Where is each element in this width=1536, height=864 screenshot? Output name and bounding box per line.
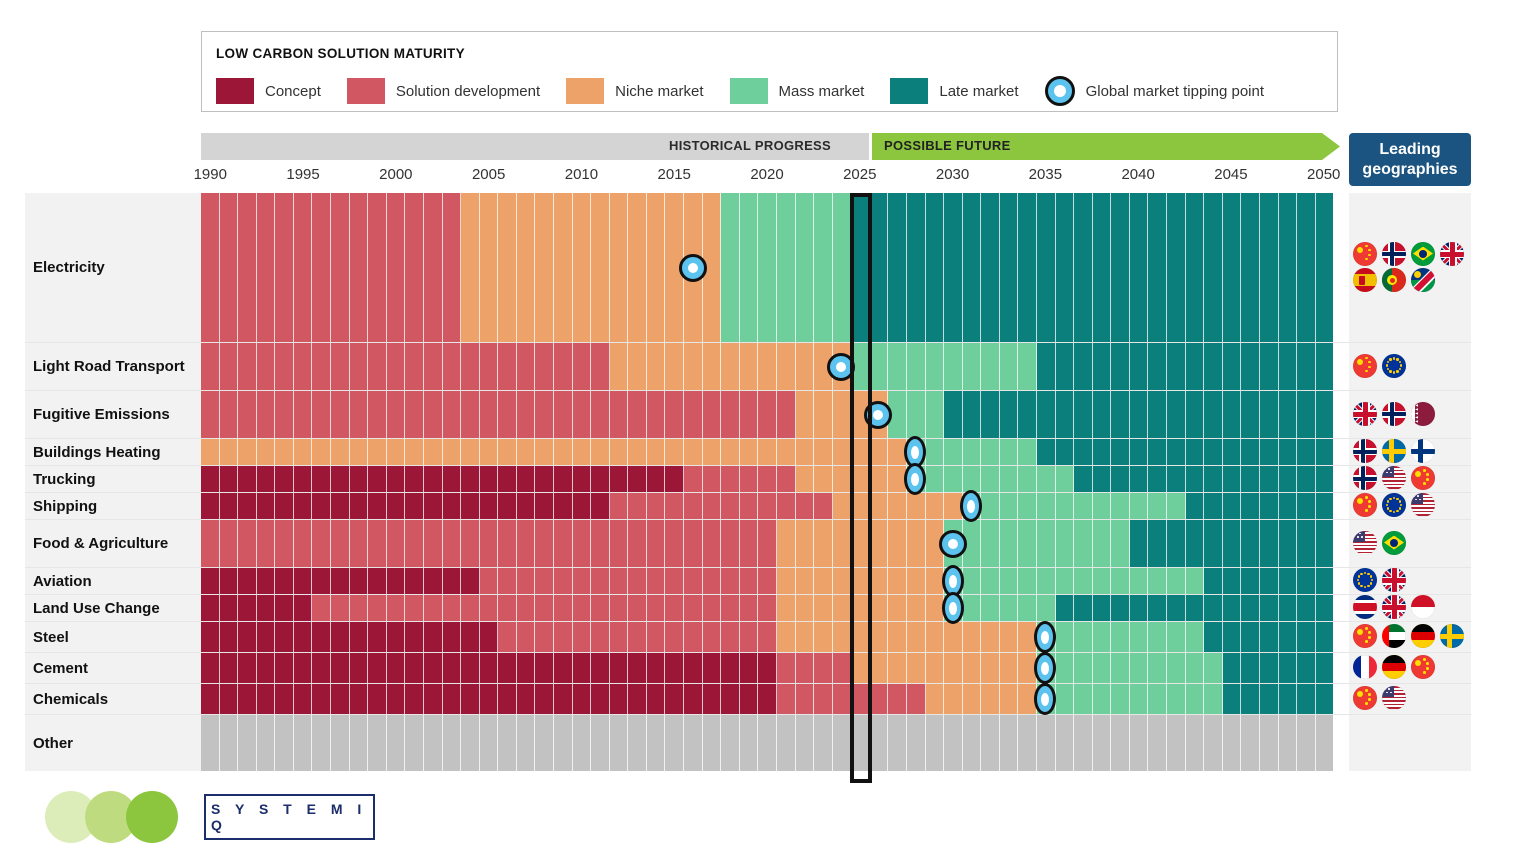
matrix-cell <box>944 193 963 342</box>
matrix-cell <box>1297 684 1316 714</box>
flag-icon-sweden <box>1382 439 1406 463</box>
matrix-cell <box>628 653 647 683</box>
matrix-cell <box>424 684 443 714</box>
matrix-cell <box>870 622 889 652</box>
axis-tick-2045: 2045 <box>1214 166 1247 183</box>
matrix-cell <box>796 493 815 519</box>
flag-icon-china <box>1353 493 1377 517</box>
matrix-cell <box>888 520 907 567</box>
matrix-cell <box>1000 622 1019 652</box>
matrix-cell <box>1056 391 1075 438</box>
row-geographies <box>1349 391 1471 438</box>
matrix-cell <box>275 653 294 683</box>
matrix-cell <box>1111 193 1130 342</box>
matrix-cell <box>461 715 480 771</box>
matrix-cell <box>981 343 1000 390</box>
matrix-cell <box>238 391 257 438</box>
matrix-cell <box>1037 193 1056 342</box>
matrix-cell <box>1260 343 1279 390</box>
matrix-cell <box>610 391 629 438</box>
matrix-cell <box>1074 568 1093 594</box>
matrix-cell <box>926 193 945 342</box>
matrix-cell <box>870 684 889 714</box>
matrix-cell <box>368 343 387 390</box>
matrix-cell <box>740 193 759 342</box>
matrix-cell <box>665 684 684 714</box>
matrix-cell <box>1093 493 1112 519</box>
leading-geographies-line1: Leading <box>1379 141 1440 158</box>
legend-item-tipping-point: Global market tipping point <box>1045 76 1264 106</box>
matrix-cell <box>1204 568 1223 594</box>
matrix-cell <box>1111 439 1130 465</box>
matrix-cell <box>1204 391 1223 438</box>
matrix-cell <box>1260 595 1279 621</box>
matrix-cell <box>591 343 610 390</box>
matrix-cell <box>1186 715 1205 771</box>
matrix-cell <box>591 439 610 465</box>
matrix-cell <box>331 439 350 465</box>
matrix-cell <box>1093 193 1112 342</box>
matrix-cell <box>1204 684 1223 714</box>
matrix-cell <box>814 439 833 465</box>
matrix-cell <box>944 439 963 465</box>
matrix-cell <box>1241 343 1260 390</box>
matrix-row: Light Road Transport <box>25 343 1471 391</box>
matrix-cell <box>684 622 703 652</box>
legend-swatch-icon <box>890 78 928 104</box>
matrix-cell <box>1316 439 1334 465</box>
matrix-cell <box>238 715 257 771</box>
matrix-cell <box>350 391 369 438</box>
matrix-cell <box>405 466 424 492</box>
matrix-cell <box>1130 684 1149 714</box>
matrix-cell <box>647 622 666 652</box>
flag-icon-european-union <box>1353 568 1377 592</box>
legend-item-mass-market: Mass market <box>730 78 865 104</box>
matrix-cell <box>257 684 276 714</box>
matrix-cell <box>498 493 517 519</box>
matrix-cell <box>257 520 276 567</box>
matrix-cell <box>294 466 313 492</box>
matrix-cell <box>1130 439 1149 465</box>
matrix-cell <box>1093 391 1112 438</box>
flag-icon-united-states <box>1382 466 1406 490</box>
matrix-cell <box>703 622 722 652</box>
matrix-cell <box>480 193 499 342</box>
matrix-cell <box>870 493 889 519</box>
matrix-cell <box>758 343 777 390</box>
matrix-cell <box>554 653 573 683</box>
matrix-cell <box>238 568 257 594</box>
matrix-cell <box>1093 520 1112 567</box>
row-geographies <box>1349 466 1471 492</box>
matrix-cell <box>257 568 276 594</box>
matrix-cell <box>1316 493 1334 519</box>
flag-icon-united-kingdom <box>1382 568 1406 592</box>
tipping-point-marker-land-use-change <box>942 592 964 624</box>
matrix-cell <box>981 193 1000 342</box>
matrix-cell <box>350 493 369 519</box>
matrix-cell <box>220 653 239 683</box>
matrix-row: Food & Agriculture <box>25 520 1471 568</box>
matrix-cell <box>591 684 610 714</box>
row-label-other: Other <box>25 715 201 771</box>
matrix-cell <box>851 653 870 683</box>
row-geographies <box>1349 439 1471 465</box>
matrix-cell <box>220 193 239 342</box>
matrix-cell <box>387 391 406 438</box>
matrix-cell <box>368 715 387 771</box>
possible-future-label: POSSIBLE FUTURE <box>884 138 1011 153</box>
matrix-cell <box>1000 595 1019 621</box>
matrix-cell <box>981 568 1000 594</box>
matrix-cell <box>498 391 517 438</box>
matrix-cell <box>851 466 870 492</box>
matrix-cell <box>573 193 592 342</box>
matrix-cell <box>665 568 684 594</box>
matrix-cell <box>350 343 369 390</box>
matrix-cell <box>1111 391 1130 438</box>
legend-label: Mass market <box>779 83 865 100</box>
matrix-cell <box>963 193 982 342</box>
matrix-cell <box>331 391 350 438</box>
row-label-chemicals: Chemicals <box>25 684 201 714</box>
matrix-cell <box>684 439 703 465</box>
matrix-cell <box>1074 684 1093 714</box>
matrix-cell <box>981 684 1000 714</box>
matrix-cell <box>1056 715 1075 771</box>
matrix-cell <box>981 595 1000 621</box>
matrix-cell <box>443 715 462 771</box>
matrix-cell <box>294 343 313 390</box>
matrix-cell <box>591 193 610 342</box>
matrix-cell <box>1297 193 1316 342</box>
matrix-cell <box>424 568 443 594</box>
matrix-cell <box>1223 193 1242 342</box>
matrix-cell <box>796 684 815 714</box>
matrix-cell <box>405 343 424 390</box>
matrix-cell <box>424 595 443 621</box>
matrix-cell <box>517 343 536 390</box>
matrix-cell <box>294 622 313 652</box>
matrix-cell <box>926 622 945 652</box>
matrix-cell <box>350 715 369 771</box>
matrix-cell <box>703 715 722 771</box>
matrix-cell <box>480 466 499 492</box>
matrix-cell <box>833 595 852 621</box>
legend-title: LOW CARBON SOLUTION MATURITY <box>216 46 465 61</box>
matrix-cell <box>777 568 796 594</box>
matrix-cell <box>665 520 684 567</box>
matrix-cell <box>833 466 852 492</box>
matrix-cell <box>665 715 684 771</box>
legend-label: Global market tipping point <box>1086 83 1264 100</box>
matrix-cell <box>1000 391 1019 438</box>
matrix-cell <box>1279 520 1298 567</box>
axis-tick-2020: 2020 <box>750 166 783 183</box>
matrix-cell <box>312 715 331 771</box>
matrix-cell <box>851 439 870 465</box>
matrix-cell <box>814 715 833 771</box>
legend-swatch-icon <box>347 78 385 104</box>
matrix-cell <box>1037 343 1056 390</box>
axis-tick-2025: 2025 <box>843 166 876 183</box>
matrix-cell <box>554 715 573 771</box>
matrix-cell <box>926 715 945 771</box>
matrix-cell <box>665 391 684 438</box>
matrix-cell <box>443 622 462 652</box>
matrix-cell <box>907 715 926 771</box>
matrix-cell <box>387 520 406 567</box>
matrix-cell <box>554 684 573 714</box>
matrix-cell <box>238 520 257 567</box>
matrix-cell <box>870 653 889 683</box>
matrix-cell <box>424 520 443 567</box>
matrix-cell <box>740 520 759 567</box>
matrix-cell <box>1130 193 1149 342</box>
matrix-cell <box>684 684 703 714</box>
matrix-cell <box>1260 715 1279 771</box>
matrix-cell <box>591 568 610 594</box>
matrix-cell <box>665 439 684 465</box>
matrix-cell <box>628 493 647 519</box>
matrix-cell <box>684 653 703 683</box>
matrix-cell <box>554 520 573 567</box>
matrix-cell <box>294 715 313 771</box>
matrix-cell <box>833 439 852 465</box>
matrix-cell <box>424 493 443 519</box>
matrix-cell <box>926 653 945 683</box>
matrix-cell <box>368 439 387 465</box>
matrix-cell <box>443 343 462 390</box>
row-label-shipping: Shipping <box>25 493 201 519</box>
matrix-cell <box>1148 684 1167 714</box>
matrix-cell <box>387 653 406 683</box>
matrix-cell <box>517 520 536 567</box>
matrix-cell <box>573 466 592 492</box>
matrix-cell <box>1316 568 1334 594</box>
matrix-cell <box>1111 568 1130 594</box>
matrix-cell <box>1000 193 1019 342</box>
matrix-cell <box>573 343 592 390</box>
matrix-cell <box>535 684 554 714</box>
matrix-cell <box>1111 684 1130 714</box>
matrix-cell <box>350 595 369 621</box>
flag-icon-france <box>1353 655 1377 679</box>
matrix-cell <box>1130 391 1149 438</box>
matrix-cell <box>535 466 554 492</box>
matrix-cell <box>1056 653 1075 683</box>
matrix-cell <box>628 466 647 492</box>
matrix-cell <box>796 595 815 621</box>
matrix-cell <box>647 439 666 465</box>
footer-logo: S Y S T E M I Q <box>40 785 440 849</box>
matrix-cell <box>554 391 573 438</box>
matrix-cell <box>1130 622 1149 652</box>
matrix-cell <box>535 343 554 390</box>
matrix-cell <box>480 439 499 465</box>
matrix-cell <box>1297 439 1316 465</box>
matrix-cell <box>610 520 629 567</box>
matrix-cell <box>461 622 480 652</box>
matrix-cell <box>1223 493 1242 519</box>
flag-icon-brazil <box>1382 531 1406 555</box>
matrix-cell <box>498 622 517 652</box>
matrix-cell <box>703 493 722 519</box>
matrix-cell <box>220 595 239 621</box>
matrix-cell <box>610 653 629 683</box>
matrix-cell <box>480 653 499 683</box>
matrix-cell <box>1316 520 1334 567</box>
matrix-cell <box>1186 343 1205 390</box>
matrix-cell <box>535 520 554 567</box>
matrix-cell <box>610 439 629 465</box>
matrix-cell <box>981 391 1000 438</box>
matrix-cell <box>647 653 666 683</box>
matrix-cell <box>1148 715 1167 771</box>
matrix-cell <box>796 520 815 567</box>
matrix-cell <box>498 715 517 771</box>
matrix-cell <box>201 391 220 438</box>
matrix-cell <box>814 391 833 438</box>
matrix-cell <box>573 391 592 438</box>
matrix-cell <box>1186 520 1205 567</box>
matrix-cell <box>331 568 350 594</box>
matrix-cell <box>405 391 424 438</box>
matrix-cell <box>424 193 443 342</box>
matrix-cell <box>1074 595 1093 621</box>
matrix-cell <box>443 568 462 594</box>
row-label-aviation: Aviation <box>25 568 201 594</box>
matrix-cell <box>1111 622 1130 652</box>
matrix-cell <box>275 684 294 714</box>
matrix-cell <box>1316 595 1334 621</box>
matrix-cell <box>888 343 907 390</box>
matrix-cell <box>238 653 257 683</box>
matrix-cell <box>350 193 369 342</box>
matrix-cell <box>331 466 350 492</box>
matrix-cell <box>405 684 424 714</box>
matrix-cell <box>610 595 629 621</box>
matrix-cell <box>1186 391 1205 438</box>
matrix-cell <box>517 493 536 519</box>
matrix-cell <box>498 520 517 567</box>
matrix-cell <box>461 595 480 621</box>
axis-tick-2050: 2050 <box>1307 166 1340 183</box>
matrix-cell <box>963 684 982 714</box>
row-track <box>201 595 1333 621</box>
matrix-cell <box>312 684 331 714</box>
matrix-cell <box>721 684 740 714</box>
matrix-cell <box>554 568 573 594</box>
matrix-cell <box>1223 684 1242 714</box>
matrix-cell <box>350 439 369 465</box>
matrix-cell <box>1223 653 1242 683</box>
matrix-cell <box>814 520 833 567</box>
matrix-cell <box>220 391 239 438</box>
matrix-cell <box>257 343 276 390</box>
matrix-cell <box>1037 493 1056 519</box>
matrix-cell <box>1111 466 1130 492</box>
matrix-cell <box>1241 391 1260 438</box>
matrix-cell <box>517 684 536 714</box>
axis-tick-2000: 2000 <box>379 166 412 183</box>
matrix-cell <box>610 715 629 771</box>
row-geographies <box>1349 622 1471 652</box>
matrix-cell <box>535 622 554 652</box>
matrix-cell <box>1279 193 1298 342</box>
matrix-cell <box>1241 439 1260 465</box>
matrix-cell <box>1018 715 1037 771</box>
matrix-cell <box>684 568 703 594</box>
matrix-cell <box>1000 343 1019 390</box>
matrix-cell <box>573 568 592 594</box>
matrix-cell <box>368 568 387 594</box>
matrix-cell <box>405 193 424 342</box>
matrix-cell <box>610 684 629 714</box>
matrix-cell <box>461 343 480 390</box>
matrix-cell <box>1093 439 1112 465</box>
matrix-cell <box>591 391 610 438</box>
matrix-cell <box>833 520 852 567</box>
matrix-cell <box>1056 520 1075 567</box>
matrix-cell <box>628 193 647 342</box>
matrix-cell <box>294 520 313 567</box>
flag-icon-china <box>1353 686 1377 710</box>
flag-icon-norway <box>1382 402 1406 426</box>
matrix-cell <box>1056 684 1075 714</box>
matrix-cell <box>554 595 573 621</box>
matrix-cell <box>1260 193 1279 342</box>
matrix-cell <box>275 493 294 519</box>
matrix-cell <box>535 568 554 594</box>
matrix-cell <box>944 343 963 390</box>
matrix-cell <box>833 653 852 683</box>
matrix-cell <box>814 466 833 492</box>
matrix-cell <box>443 684 462 714</box>
flag-icon-china <box>1353 242 1377 266</box>
matrix-cell <box>1167 466 1186 492</box>
row-label-land-use-change: Land Use Change <box>25 595 201 621</box>
matrix-cell <box>368 684 387 714</box>
matrix-cell <box>1074 439 1093 465</box>
matrix-cell <box>424 391 443 438</box>
matrix-cell <box>740 439 759 465</box>
matrix-cell <box>1204 493 1223 519</box>
matrix-cell <box>1167 520 1186 567</box>
matrix-cell <box>1093 684 1112 714</box>
logo-dot-dark-icon <box>126 791 178 843</box>
flag-icon-costa-rica <box>1353 595 1377 619</box>
matrix-cell <box>703 391 722 438</box>
matrix-cell <box>1204 343 1223 390</box>
matrix-cell <box>721 391 740 438</box>
matrix-cell <box>963 622 982 652</box>
matrix-row: Electricity <box>25 193 1471 343</box>
matrix-cell <box>368 622 387 652</box>
matrix-cell <box>647 193 666 342</box>
matrix-cell <box>498 193 517 342</box>
matrix-cell <box>201 568 220 594</box>
maturity-matrix: ElectricityLight Road TransportFugitive … <box>25 193 1471 777</box>
matrix-cell <box>331 520 350 567</box>
matrix-cell <box>238 595 257 621</box>
matrix-cell <box>870 439 889 465</box>
matrix-cell <box>963 343 982 390</box>
matrix-cell <box>201 595 220 621</box>
matrix-cell <box>1111 653 1130 683</box>
matrix-cell <box>461 493 480 519</box>
